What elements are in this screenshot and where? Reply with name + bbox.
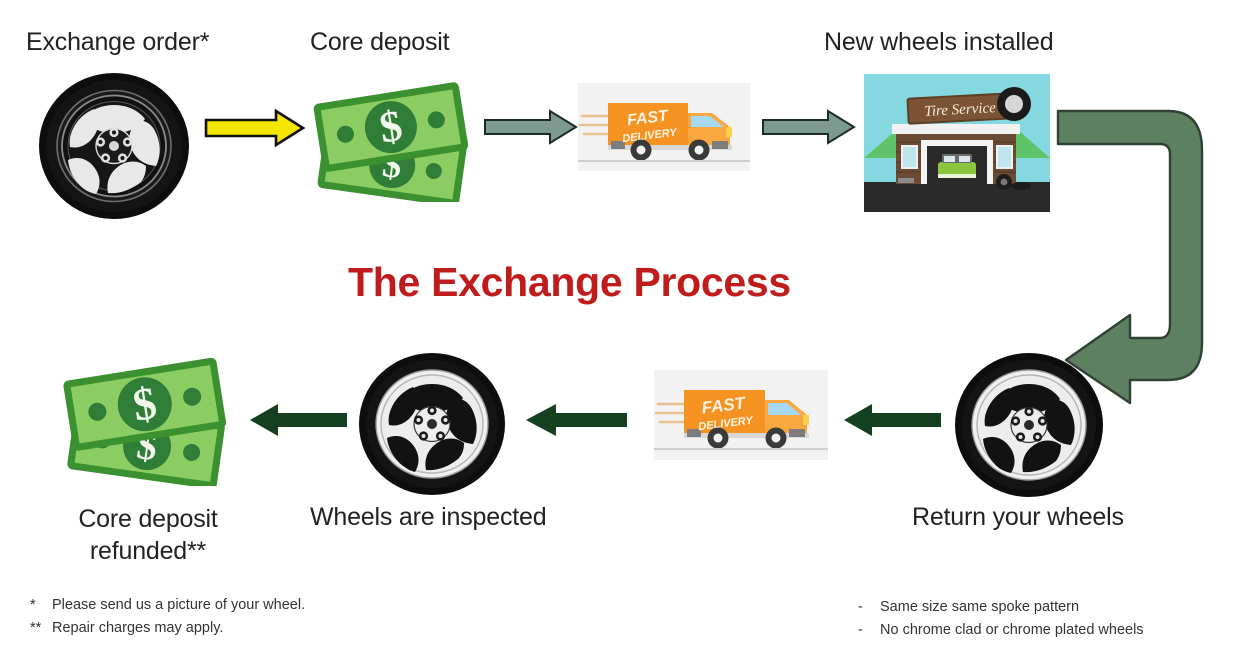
arrow-left-green-icon-1 [248, 402, 348, 438]
cash-icon: $ $ [308, 74, 476, 202]
footnote-text: No chrome clad or chrome plated wheels [880, 622, 1144, 638]
wheel-dark-icon [38, 72, 190, 220]
delivery-truck-icon-2: FAST DELIVERY [654, 370, 828, 460]
footnote-marker: - [858, 619, 880, 642]
footnote-text: Please send us a picture of your wheel. [52, 597, 305, 613]
footnote-right-2: -No chrome clad or chrome plated wheels [858, 619, 1144, 642]
arrow-left-green-icon-3 [842, 402, 942, 438]
arrow-left-green-icon-2 [524, 402, 628, 438]
cash-icon-refund: $ $ [58, 352, 236, 486]
footnote-marker: * [30, 594, 52, 617]
footnote-marker: ** [30, 617, 52, 640]
delivery-truck-icon-1: FAST DELIVERY [578, 83, 750, 171]
footnotes-left: *Please send us a picture of your wheel.… [30, 594, 305, 641]
label-exchange-order: Exchange order* [26, 28, 209, 57]
footnote-left-2: **Repair charges may apply. [30, 617, 305, 640]
footnote-text: Repair charges may apply. [52, 620, 223, 636]
label-core-deposit: Core deposit [310, 28, 449, 57]
footnote-marker: - [858, 596, 880, 619]
label-wheels-are-inspected: Wheels are inspected [310, 503, 546, 532]
wheel-light-icon [358, 352, 506, 496]
footnote-text: Same size same spoke pattern [880, 599, 1079, 615]
footnote-left-1: *Please send us a picture of your wheel. [30, 594, 305, 617]
footnote-right-1: -Same size same spoke pattern [858, 596, 1144, 619]
label-return-your-wheels: Return your wheels [912, 503, 1124, 532]
tire-service-shop-icon: Tire Service [864, 74, 1050, 212]
wheel-light-icon-return [954, 352, 1104, 498]
footnotes-right: -Same size same spoke pattern -No chrome… [858, 596, 1144, 643]
arrow-right-sage-icon-1 [484, 108, 578, 146]
label-core-deposit-refunded: Core deposit refunded** [42, 503, 254, 567]
arrow-right-yellow-icon [204, 108, 306, 148]
infographic-canvas: Exchange order* Core deposit New wheels … [0, 0, 1250, 666]
page-title: The Exchange Process [348, 259, 791, 306]
label-new-wheels-installed: New wheels installed [824, 28, 1053, 57]
arrow-right-sage-icon-2 [762, 108, 856, 146]
